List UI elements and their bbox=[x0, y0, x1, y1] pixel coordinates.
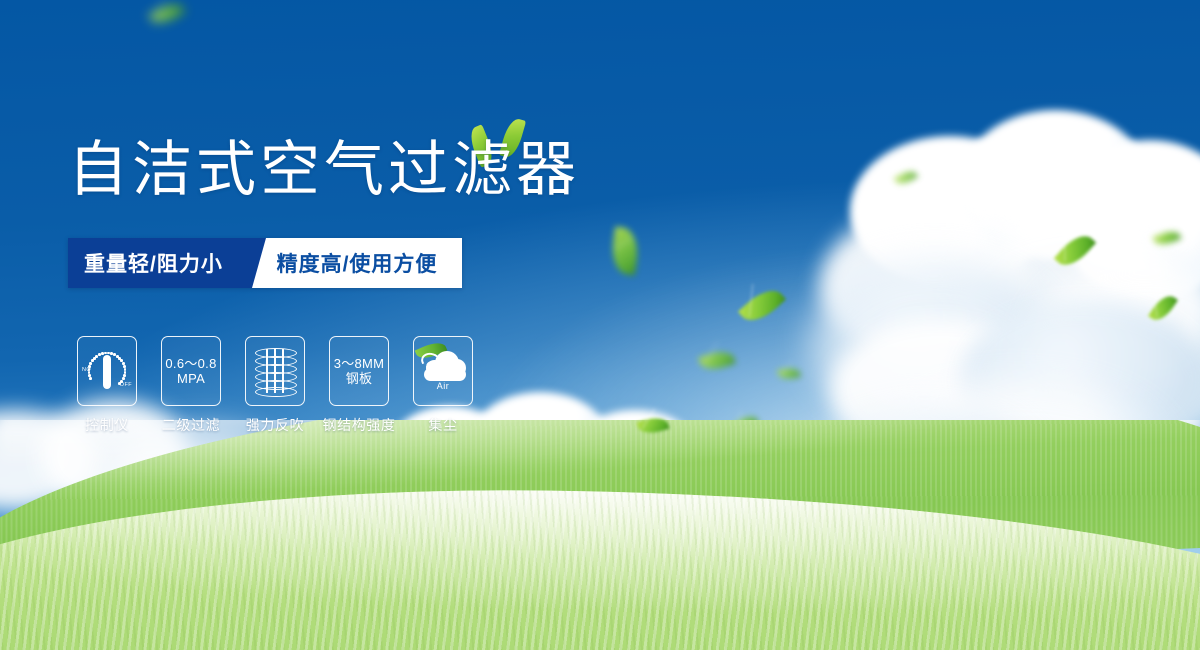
feature-icon-box: Air bbox=[413, 336, 473, 406]
pressure-text-icon: 0.6～0.8 MPA bbox=[165, 356, 216, 387]
subtitle-bar: 重量轻/阻力小 精度高/使用方便 bbox=[68, 238, 462, 288]
feature-label: 二级过滤 bbox=[162, 415, 220, 435]
banner-content: 自洁式空气过滤器 重量轻/阻力小 精度高/使用方便 NO OFF 控制仪 bbox=[0, 0, 1200, 650]
feature-label: 控制仪 bbox=[85, 415, 129, 435]
subtitle-right-text: 精度高/使用方便 bbox=[252, 238, 462, 288]
feature-label: 钢结构强度 bbox=[323, 415, 396, 435]
gauge-tick bbox=[89, 377, 92, 380]
gauge-tick bbox=[91, 359, 94, 362]
feature-item-dust-collection[interactable]: Air 集尘 bbox=[414, 336, 472, 435]
feature-item-two-stage-filtration[interactable]: 0.6～0.8 MPA 二级过滤 bbox=[162, 336, 220, 435]
gauge-tick bbox=[88, 374, 91, 377]
feature-item-control-instrument[interactable]: NO OFF 控制仪 bbox=[78, 336, 136, 435]
feature-icon-box: NO OFF bbox=[77, 336, 137, 406]
gauge-tick bbox=[89, 362, 92, 365]
feature-item-strong-blowback[interactable]: 强力反吹 bbox=[246, 336, 304, 435]
gauge-tick bbox=[88, 365, 91, 368]
feature-label: 强力反吹 bbox=[246, 415, 304, 435]
feature-icon-box: 3～8MM 钢板 bbox=[329, 336, 389, 406]
filter-stack-icon bbox=[255, 347, 295, 395]
air-cloud-icon: Air bbox=[418, 347, 468, 395]
hero-banner: 自洁式空气过滤器 重量轻/阻力小 精度高/使用方便 NO OFF 控制仪 bbox=[0, 0, 1200, 650]
feature-icon-box bbox=[245, 336, 305, 406]
feature-label: 集尘 bbox=[428, 415, 457, 435]
gauge-off-label: OFF bbox=[120, 382, 132, 388]
steel-text-icon: 3～8MM 钢板 bbox=[334, 356, 385, 387]
feature-item-steel-structure-strength[interactable]: 3～8MM 钢板 钢结构强度 bbox=[330, 336, 388, 435]
feature-list: NO OFF 控制仪 0.6～0.8 MPA 二级过滤 bbox=[78, 336, 472, 435]
feature-icon-box: 0.6～0.8 MPA bbox=[161, 336, 221, 406]
subtitle-left-text: 重量轻/阻力小 bbox=[68, 238, 223, 288]
page-title: 自洁式空气过滤器 bbox=[68, 140, 580, 200]
gauge-icon: NO OFF bbox=[82, 346, 132, 396]
air-label: Air bbox=[418, 381, 468, 391]
